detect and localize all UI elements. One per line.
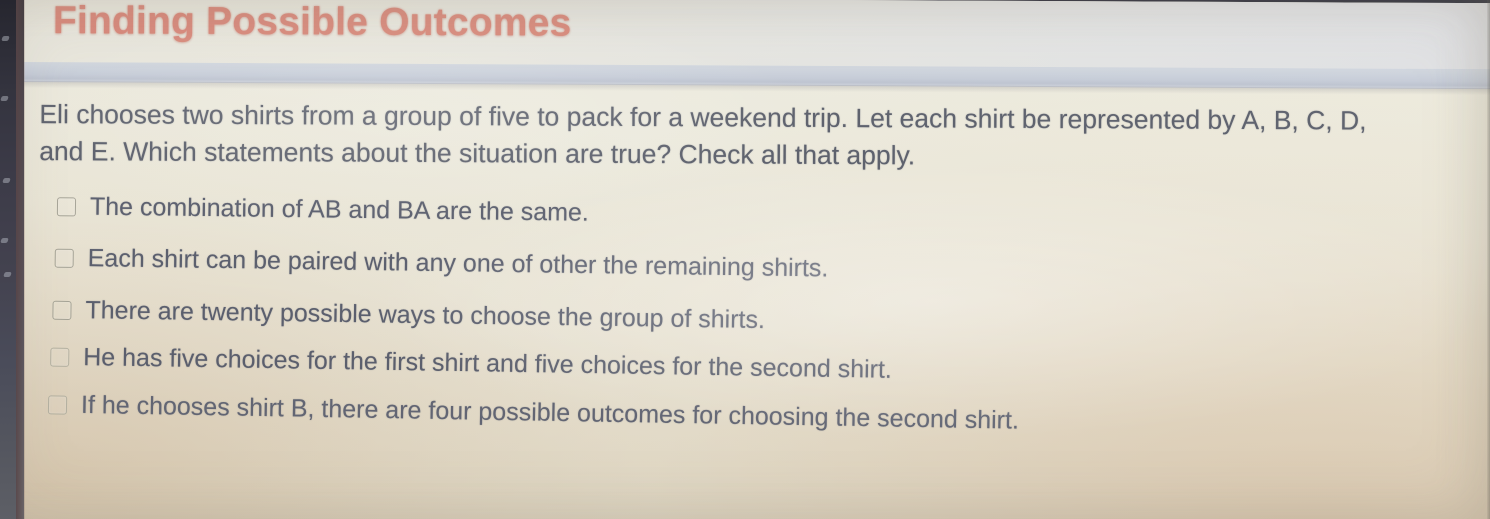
answer-option-label: Each shirt can be paired with any one of… <box>88 244 829 282</box>
answer-option-label: There are twenty possible ways to choose… <box>85 296 765 334</box>
checkbox-unchecked-icon[interactable] <box>48 395 67 414</box>
answer-option-label: If he chooses shirt B, there are four po… <box>81 391 1019 435</box>
answer-option-2[interactable]: Each shirt can be paired with any one of… <box>55 244 829 283</box>
answer-option-1[interactable]: The combination of AB and BA are the sam… <box>57 192 589 226</box>
answer-option-4[interactable]: He has five choices for the first shirt … <box>50 343 892 384</box>
checkbox-unchecked-icon[interactable] <box>57 197 76 216</box>
checkbox-unchecked-icon[interactable] <box>52 301 71 320</box>
answer-options-list: The combination of AB and BA are the sam… <box>19 0 1490 519</box>
answer-option-label: The combination of AB and BA are the sam… <box>90 193 589 227</box>
answer-option-3[interactable]: There are twenty possible ways to choose… <box>52 296 765 334</box>
answer-option-5[interactable]: If he chooses shirt B, there are four po… <box>48 390 1019 434</box>
answer-option-label: He has five choices for the first shirt … <box>83 343 892 384</box>
question-page: Finding Possible Outcomes Eli chooses tw… <box>19 0 1490 519</box>
screen-bezel-inner-edge <box>16 0 25 519</box>
checkbox-unchecked-icon[interactable] <box>50 348 69 367</box>
checkbox-unchecked-icon[interactable] <box>55 249 74 268</box>
screenshot-root: Finding Possible Outcomes Eli chooses tw… <box>0 0 1490 519</box>
